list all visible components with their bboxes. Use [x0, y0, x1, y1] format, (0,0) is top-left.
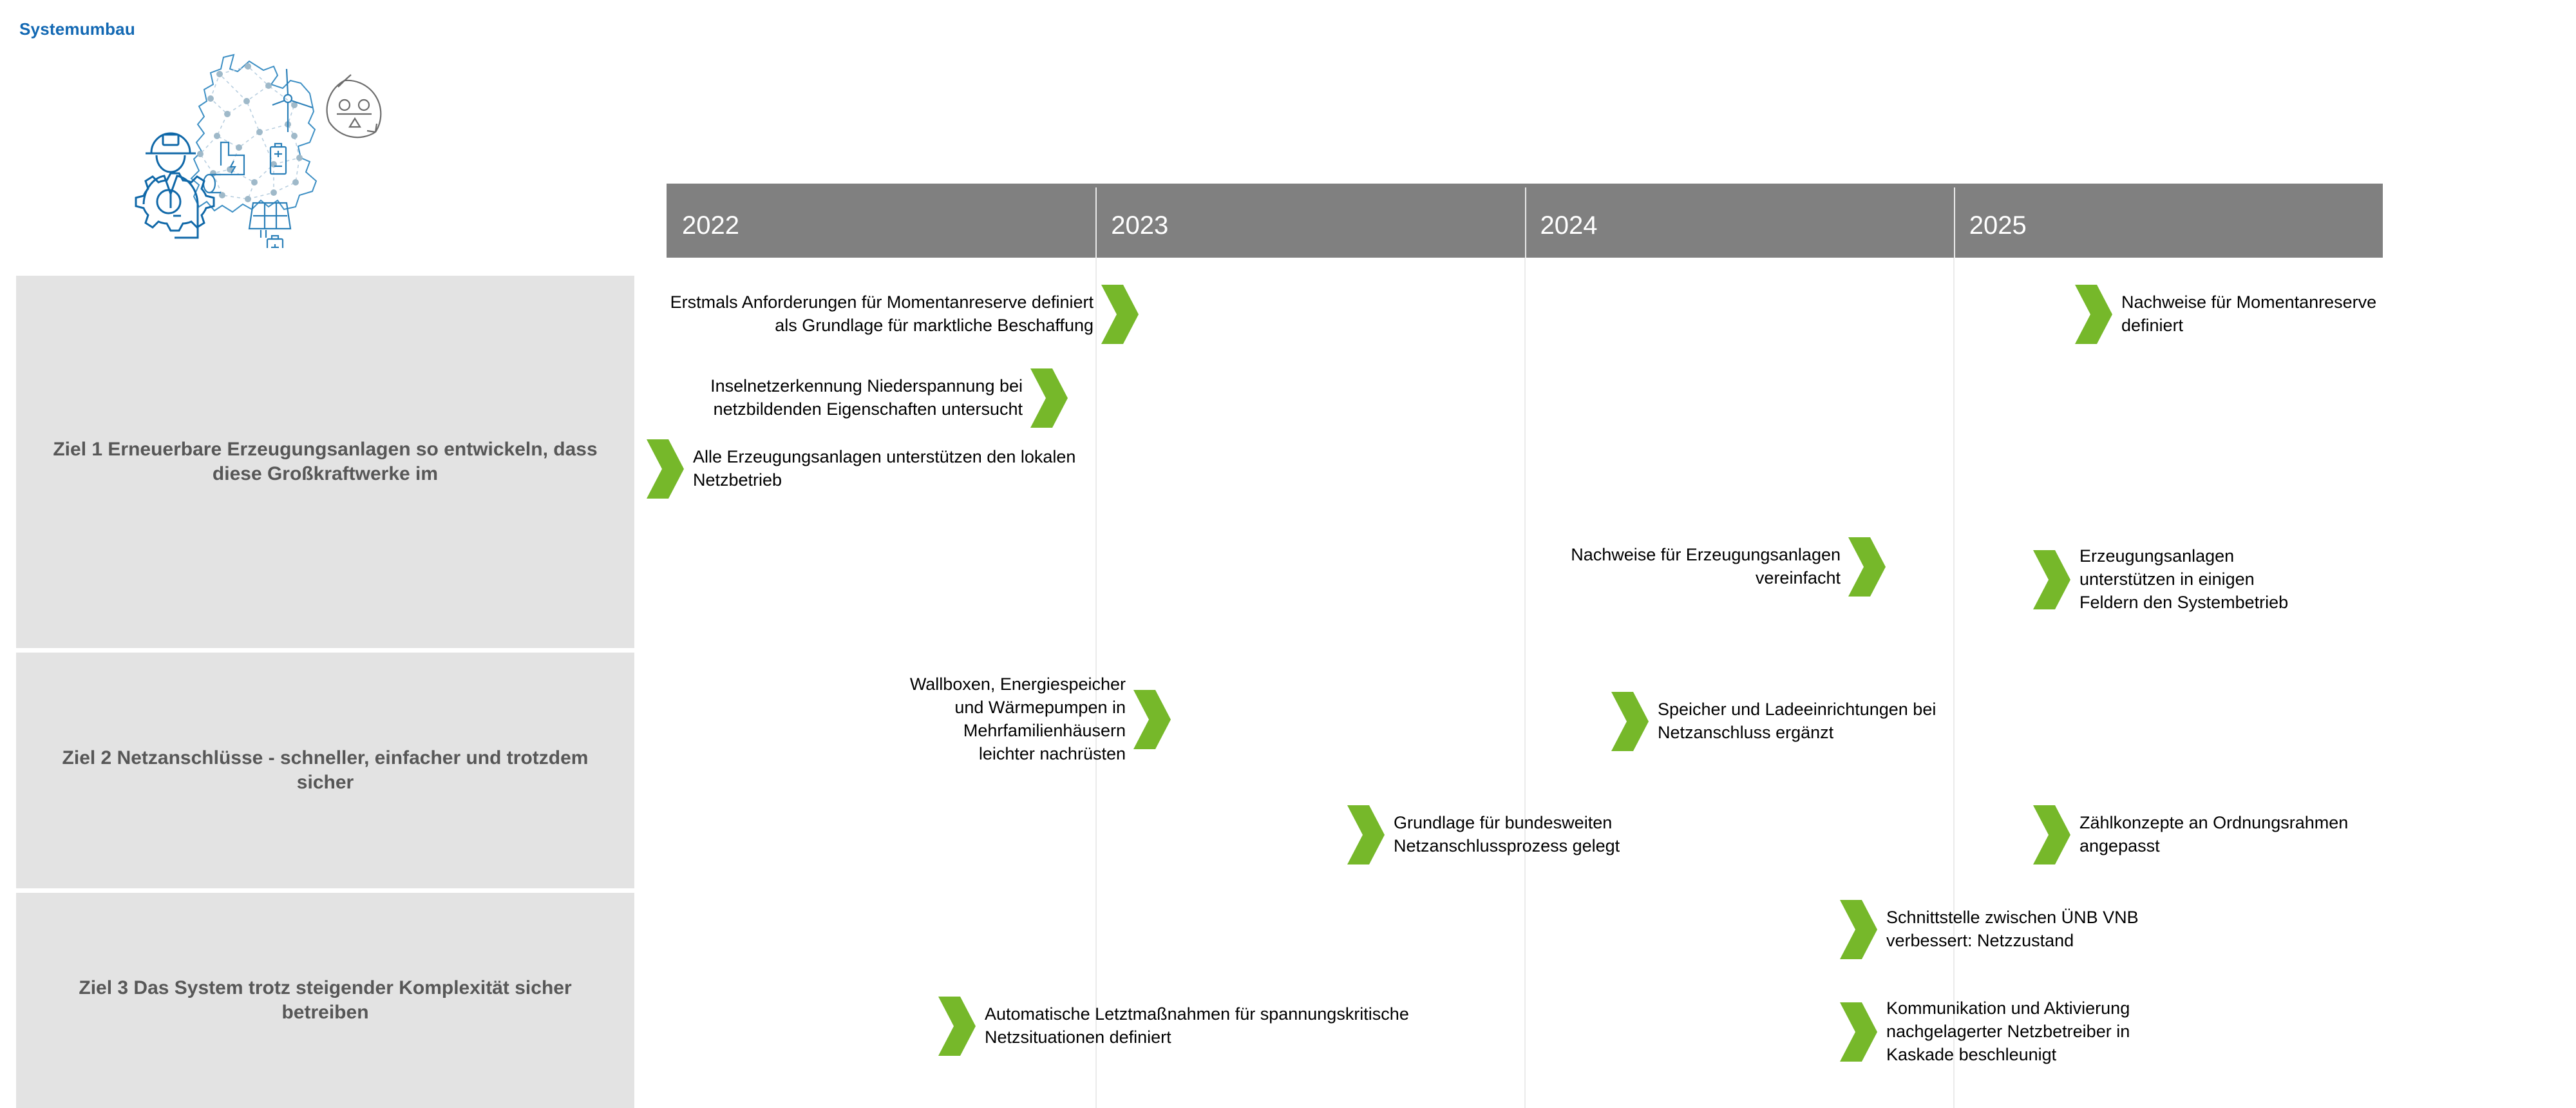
milestone-ms-12[interactable]: Automatische Letztmaßnahmen für spannung…: [937, 995, 1774, 1057]
milestone-text: Wallboxen, Energiespeicher und Wärmepump…: [910, 673, 1132, 766]
goal-label: Ziel 3 Das System trotz steigender Kompl…: [39, 976, 611, 1026]
year-label: 2024: [1540, 204, 1598, 238]
milestone-ms-9[interactable]: Grundlage für bundesweiten Netzanschluss…: [1346, 804, 1990, 866]
chevron-icon: [1610, 691, 1650, 752]
timeline-header-bar: 2022 2023 2024 2025: [667, 184, 2383, 258]
chevron-icon: [2032, 549, 2072, 611]
milestone-ms-10[interactable]: Zählkonzepte an Ordnungsrahmen angepasst: [2032, 804, 2566, 866]
milestone-text: Erstmals Anforderungen für Momentanreser…: [670, 291, 1100, 338]
chevron-icon: [1839, 1001, 1879, 1063]
milestone-ms-7[interactable]: Wallboxen, Energiespeicher und Wärmepump…: [644, 658, 1172, 781]
goal-panel-ziel-2: Ziel 2 Netzanschlüsse - schneller, einfa…: [16, 653, 634, 888]
milestone-ms-5[interactable]: Nachweise für Erzeugungsanlagen vereinfa…: [1320, 536, 1887, 598]
milestone-ms-13[interactable]: Kommunikation und Aktivierung nachgelage…: [1839, 987, 2483, 1077]
chevron-icon: [1839, 899, 1879, 960]
cycle-arrows-icon: [327, 75, 381, 137]
chevron-icon: [937, 995, 977, 1057]
year-label: 2025: [1969, 204, 2027, 238]
wind-turbine-icon: [272, 69, 312, 132]
milestone-text: Automatische Letztmaßnahmen für spannung…: [977, 1003, 1409, 1049]
milestone-ms-11[interactable]: Schnittstelle zwischen ÜNB VNB verbesser…: [1839, 899, 2483, 960]
timeline-year-2023: 2023: [1095, 184, 1524, 258]
timeline-year-2025: 2025: [1954, 184, 2383, 258]
milestone-text: Zählkonzepte an Ordnungsrahmen angepasst: [2072, 812, 2348, 858]
milestone-ms-8[interactable]: Speicher und Ladeeinrichtungen bei Netza…: [1610, 691, 2293, 752]
chevron-icon: [2032, 804, 2072, 866]
chevron-icon: [1847, 536, 1887, 598]
gridline-2024: [1524, 258, 1526, 1108]
milestone-text: Inselnetzerkennung Niederspannung bei ne…: [710, 375, 1029, 421]
milestone-ms-1[interactable]: Erstmals Anforderungen für Momentanreser…: [644, 283, 1140, 345]
milestone-ms-4[interactable]: Alle Erzeugungsanlagen unterstützen den …: [645, 438, 1354, 500]
goal-panel-ziel-3: Ziel 3 Das System trotz steigender Kompl…: [16, 893, 634, 1108]
battery-icon-top: [270, 144, 286, 174]
year-label: 2022: [682, 204, 739, 238]
chevron-icon: [1346, 804, 1386, 866]
chevron-icon: [1132, 689, 1172, 750]
goal-label: Ziel 1 Erneuerbare Erzeugungsanlagen so …: [39, 437, 611, 487]
milestone-text: Erzeugungsanlagen unterstützen in einige…: [2072, 545, 2288, 615]
goal-label: Ziel 2 Netzanschlüsse - schneller, einfa…: [39, 746, 611, 796]
milestone-text: Nachweise für Momentanreserve definiert: [2114, 291, 2376, 338]
gridline-2025: [1953, 258, 1955, 1108]
solar-panel-icon: [249, 203, 290, 238]
chevron-icon: [2074, 283, 2114, 345]
milestone-text: Kommunikation und Aktivierung nachgelage…: [1879, 997, 2130, 1067]
milestone-text: Nachweise für Erzeugungsanlagen vereinfa…: [1571, 544, 1847, 590]
timeline-year-2024: 2024: [1525, 184, 1954, 258]
milestone-ms-3[interactable]: Nachweise für Momentanreserve definiert: [2074, 283, 2563, 345]
chevron-icon: [1029, 367, 1069, 429]
germany-map-outline: [191, 55, 316, 212]
germany-grid-illustration: [61, 29, 422, 248]
chevron-icon: [1100, 283, 1140, 345]
chevron-icon: [645, 438, 685, 500]
milestone-text: Alle Erzeugungsanlagen unterstützen den …: [685, 446, 1075, 492]
timeline-year-2022: 2022: [667, 184, 1095, 258]
battery-icon-bottom: [267, 236, 283, 248]
milestone-text: Speicher und Ladeeinrichtungen bei Netza…: [1650, 698, 1936, 745]
milestone-ms-2[interactable]: Inselnetzerkennung Niederspannung bei ne…: [644, 367, 1069, 429]
goal-panel-ziel-1: Ziel 1 Erneuerbare Erzeugungsanlagen so …: [16, 276, 634, 648]
milestone-text: Grundlage für bundesweiten Netzanschluss…: [1386, 812, 1620, 858]
milestone-text: Schnittstelle zwischen ÜNB VNB verbesser…: [1879, 906, 2139, 953]
year-label: 2023: [1111, 204, 1168, 238]
milestone-ms-6[interactable]: Erzeugungsanlagen unterstützen in einige…: [2032, 535, 2521, 625]
